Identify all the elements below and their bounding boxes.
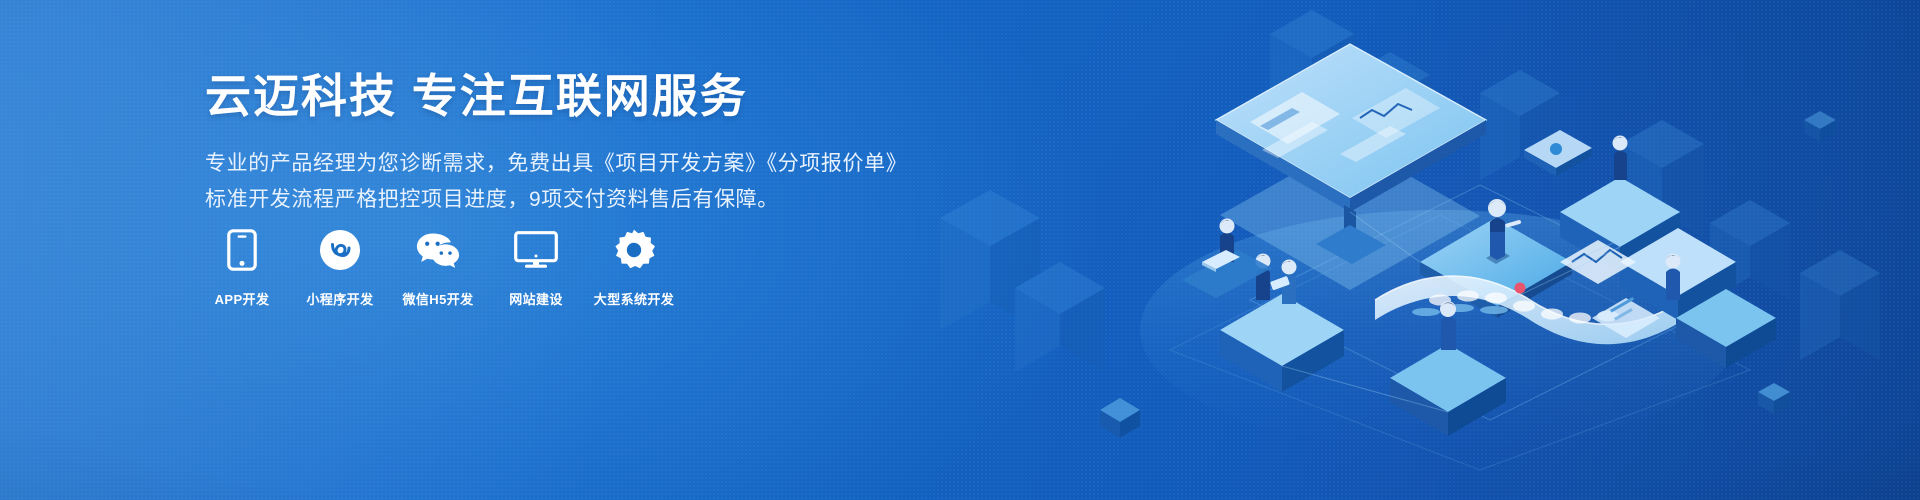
service-label: 微信H5开发 xyxy=(402,289,473,308)
page-title: 云迈科技 专注互联网服务 xyxy=(205,72,965,122)
hero-copy: 云迈科技 专注互联网服务 专业的产品经理为您诊断需求，免费出具《项目开发方案》《… xyxy=(205,72,965,218)
subtitle-line-2: 标准开发流程严格把控项目进度，9项交付资料售后有保障。 xyxy=(205,182,965,218)
service-label: 小程序开发 xyxy=(306,289,373,308)
service-item-mini-program[interactable]: 小程序开发 xyxy=(303,228,377,308)
service-item-website[interactable]: 网站建设 xyxy=(499,228,573,308)
mini-program-icon xyxy=(318,228,362,272)
service-label: 网站建设 xyxy=(509,289,563,308)
service-label: APP开发 xyxy=(215,289,270,308)
figure-right-upper xyxy=(1613,136,1629,181)
hero-subtitle: 专业的产品经理为您诊断需求，免费出具《项目开发方案》《分项报价单》 标准开发流程… xyxy=(205,146,965,218)
figure-right-lower xyxy=(1666,254,1682,301)
hero-banner: 云迈科技 专注互联网服务 专业的产品经理为您诊断需求，免费出具《项目开发方案》《… xyxy=(0,0,1920,500)
service-item-wechat-h5[interactable]: 微信H5开发 xyxy=(401,228,475,308)
service-label: 大型系统开发 xyxy=(594,289,674,308)
service-item-app[interactable]: APP开发 xyxy=(205,228,279,308)
gear-icon xyxy=(612,228,656,272)
service-item-large-system[interactable]: 大型系统开发 xyxy=(597,228,671,308)
subtitle-line-1: 专业的产品经理为您诊断需求，免费出具《项目开发方案》《分项报价单》 xyxy=(205,152,907,175)
service-list: APP开发 小程序开发 微信 xyxy=(205,228,671,308)
figure-front-right xyxy=(1440,301,1456,350)
hero-illustration xyxy=(920,0,1920,500)
monitor-icon xyxy=(514,228,558,272)
mobile-phone-icon xyxy=(220,228,264,272)
wechat-icon xyxy=(416,228,460,272)
